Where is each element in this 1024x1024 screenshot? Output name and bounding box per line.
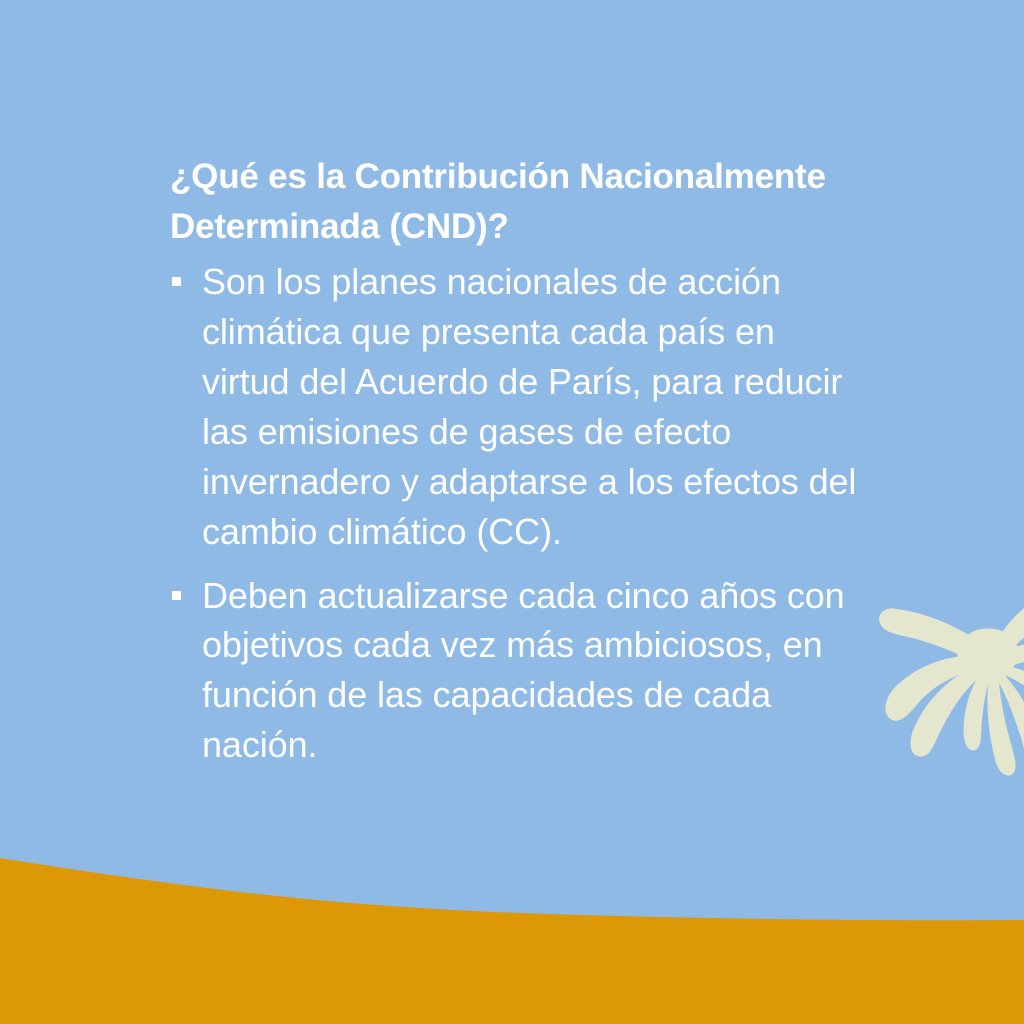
list-item-text: Deben actualizarse cada cinco años con o… — [202, 571, 870, 770]
bullet-list: Son los planes nacionales de acción clim… — [170, 257, 870, 770]
list-item: Deben actualizarse cada cinco años con o… — [170, 571, 870, 770]
slide-content: ¿Qué es la Contribución Nacionalmente De… — [170, 152, 870, 770]
list-item: Son los planes nacionales de acción clim… — [170, 257, 870, 556]
infographic-slide: ¿Qué es la Contribución Nacionalmente De… — [0, 0, 1024, 1024]
list-item-text: Son los planes nacionales de acción clim… — [202, 257, 870, 556]
square-bullet-icon — [172, 277, 181, 286]
page-title: ¿Qué es la Contribución Nacionalmente De… — [170, 152, 860, 251]
square-bullet-icon — [172, 591, 181, 600]
